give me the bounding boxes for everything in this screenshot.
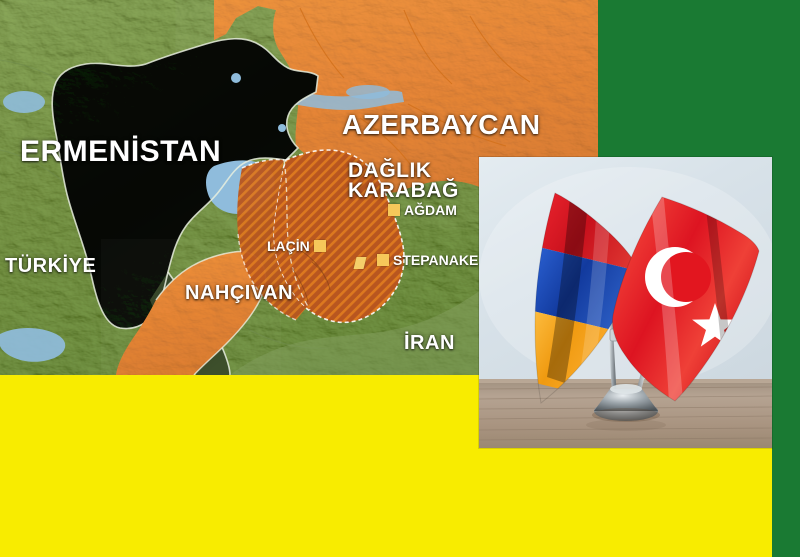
map-label-azerbaycan: AZERBAYCAN [342, 110, 540, 139]
map-city-stepanakert: STEPANAKE [377, 252, 478, 268]
desk-flags-photo-graphic [479, 157, 772, 448]
composite-image: ERMENİSTAN AZERBAYCAN TÜRKİYE NAHÇIVAN İ… [0, 0, 800, 557]
desk-flags-photo [479, 157, 772, 448]
city-label-text: AĞDAM [404, 202, 457, 218]
map-label-ermenistan: ERMENİSTAN [20, 136, 221, 168]
map-city-agdam: AĞDAM [388, 202, 457, 218]
map-label-turkiye: TÜRKİYE [5, 256, 96, 277]
map-label-nahcivan: NAHÇIVAN [185, 283, 293, 304]
square-marker-icon [314, 240, 326, 252]
map-label-iran: İRAN [404, 333, 455, 354]
map-label-daglik-karabag-line2: KARABAĞ [348, 180, 459, 202]
city-label-text: STEPANAKE [393, 252, 478, 268]
square-marker-icon [388, 204, 400, 216]
square-marker-icon [377, 254, 389, 266]
map-city-lacin: LAÇİN [267, 238, 326, 254]
city-label-text: LAÇİN [267, 238, 310, 254]
